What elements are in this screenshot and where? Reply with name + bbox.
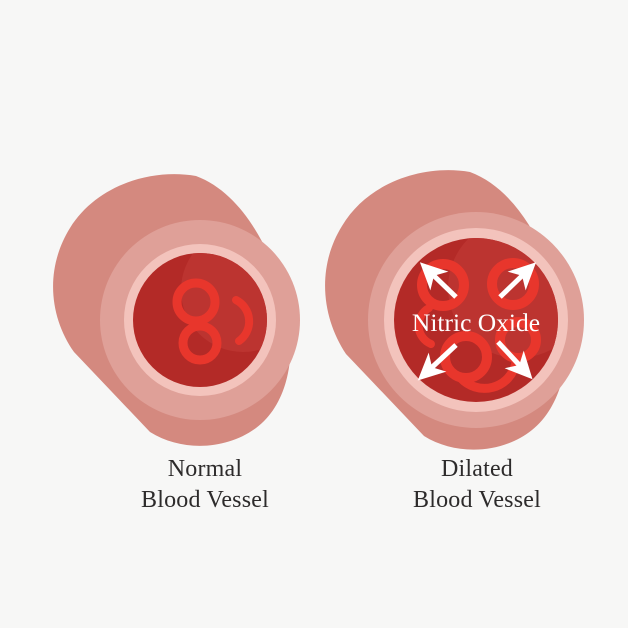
vessel-illustration: Nitric Oxide <box>0 0 628 628</box>
caption-normal-vessel: Normal Blood Vessel <box>55 454 355 515</box>
panel-dilated-vessel: Nitric Oxide <box>325 170 588 449</box>
caption-line-1: Normal <box>55 454 355 485</box>
nitric-oxide-label: Nitric Oxide <box>412 308 540 337</box>
vasodilation-figure: Nitric Oxide Normal Blood Vessel Dilated… <box>0 0 628 628</box>
caption-line-2: Blood Vessel <box>327 485 627 516</box>
caption-line-2: Blood Vessel <box>55 485 355 516</box>
caption-line-1: Dilated <box>327 454 627 485</box>
panel-normal-vessel <box>53 174 305 446</box>
caption-dilated-vessel: Dilated Blood Vessel <box>327 454 627 515</box>
